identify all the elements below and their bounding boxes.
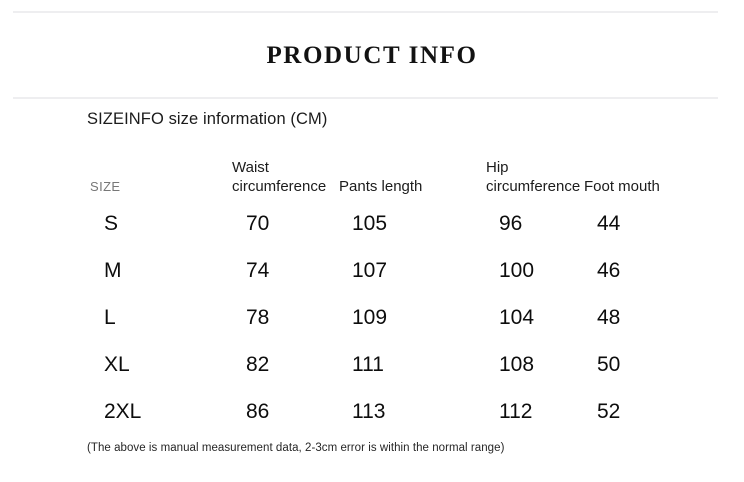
- page-title: PRODUCT INFO: [0, 41, 744, 71]
- divider-top: [13, 11, 718, 13]
- table-row: XL 82 111 108 50: [87, 341, 707, 388]
- cell-pants: 111: [317, 341, 442, 388]
- column-header-foot-mouth: Foot mouth: [564, 152, 707, 200]
- cell-size: S: [87, 200, 195, 247]
- cell-size: XL: [87, 341, 195, 388]
- column-header-hip-circumference: Hipcircumference: [442, 152, 564, 200]
- cell-foot: 46: [564, 247, 707, 294]
- cell-foot: 50: [564, 341, 707, 388]
- cell-hip: 104: [442, 294, 564, 341]
- table-header-row: SIZE Waistcircumference Pants length Hip…: [87, 152, 707, 200]
- cell-hip: 96: [442, 200, 564, 247]
- column-header-waist-line1: Waist: [232, 159, 269, 176]
- column-header-hip-line1: Hip: [486, 159, 509, 176]
- cell-size: L: [87, 294, 195, 341]
- size-chart-table: SIZE Waistcircumference Pants length Hip…: [87, 152, 707, 435]
- cell-waist: 74: [195, 247, 317, 294]
- table-header: SIZE Waistcircumference Pants length Hip…: [87, 152, 707, 200]
- cell-pants: 113: [317, 388, 442, 435]
- column-header-waist-line2: circumference: [232, 178, 326, 195]
- size-info-subtitle: SIZEINFO size information (CM): [87, 109, 327, 129]
- column-header-pants-line1: Pants length: [339, 178, 422, 195]
- cell-size: M: [87, 247, 195, 294]
- cell-foot: 52: [564, 388, 707, 435]
- cell-foot: 44: [564, 200, 707, 247]
- column-header-size: SIZE: [87, 152, 195, 200]
- cell-pants: 105: [317, 200, 442, 247]
- cell-size: 2XL: [87, 388, 195, 435]
- cell-foot: 48: [564, 294, 707, 341]
- product-info-page: PRODUCT INFO SIZEINFO size information (…: [0, 0, 744, 482]
- cell-pants: 109: [317, 294, 442, 341]
- column-header-foot-line1: Foot mouth: [584, 178, 660, 195]
- cell-waist: 78: [195, 294, 317, 341]
- table-row: 2XL 86 113 112 52: [87, 388, 707, 435]
- column-header-size-line1: SIZE: [90, 179, 121, 194]
- column-header-waist-circumference: Waistcircumference: [195, 152, 317, 200]
- column-header-pants-length: Pants length: [317, 152, 442, 200]
- column-header-hip-line2: circumference: [486, 178, 580, 195]
- measurement-footnote: (The above is manual measurement data, 2…: [87, 441, 504, 456]
- table-body: S 70 105 96 44 M 74 107 100 46 L 78 109 …: [87, 200, 707, 435]
- table-row: L 78 109 104 48: [87, 294, 707, 341]
- table-row: M 74 107 100 46: [87, 247, 707, 294]
- table-row: S 70 105 96 44: [87, 200, 707, 247]
- cell-waist: 82: [195, 341, 317, 388]
- cell-hip: 100: [442, 247, 564, 294]
- cell-hip: 112: [442, 388, 564, 435]
- cell-hip: 108: [442, 341, 564, 388]
- cell-waist: 70: [195, 200, 317, 247]
- divider-middle: [13, 97, 718, 99]
- cell-waist: 86: [195, 388, 317, 435]
- cell-pants: 107: [317, 247, 442, 294]
